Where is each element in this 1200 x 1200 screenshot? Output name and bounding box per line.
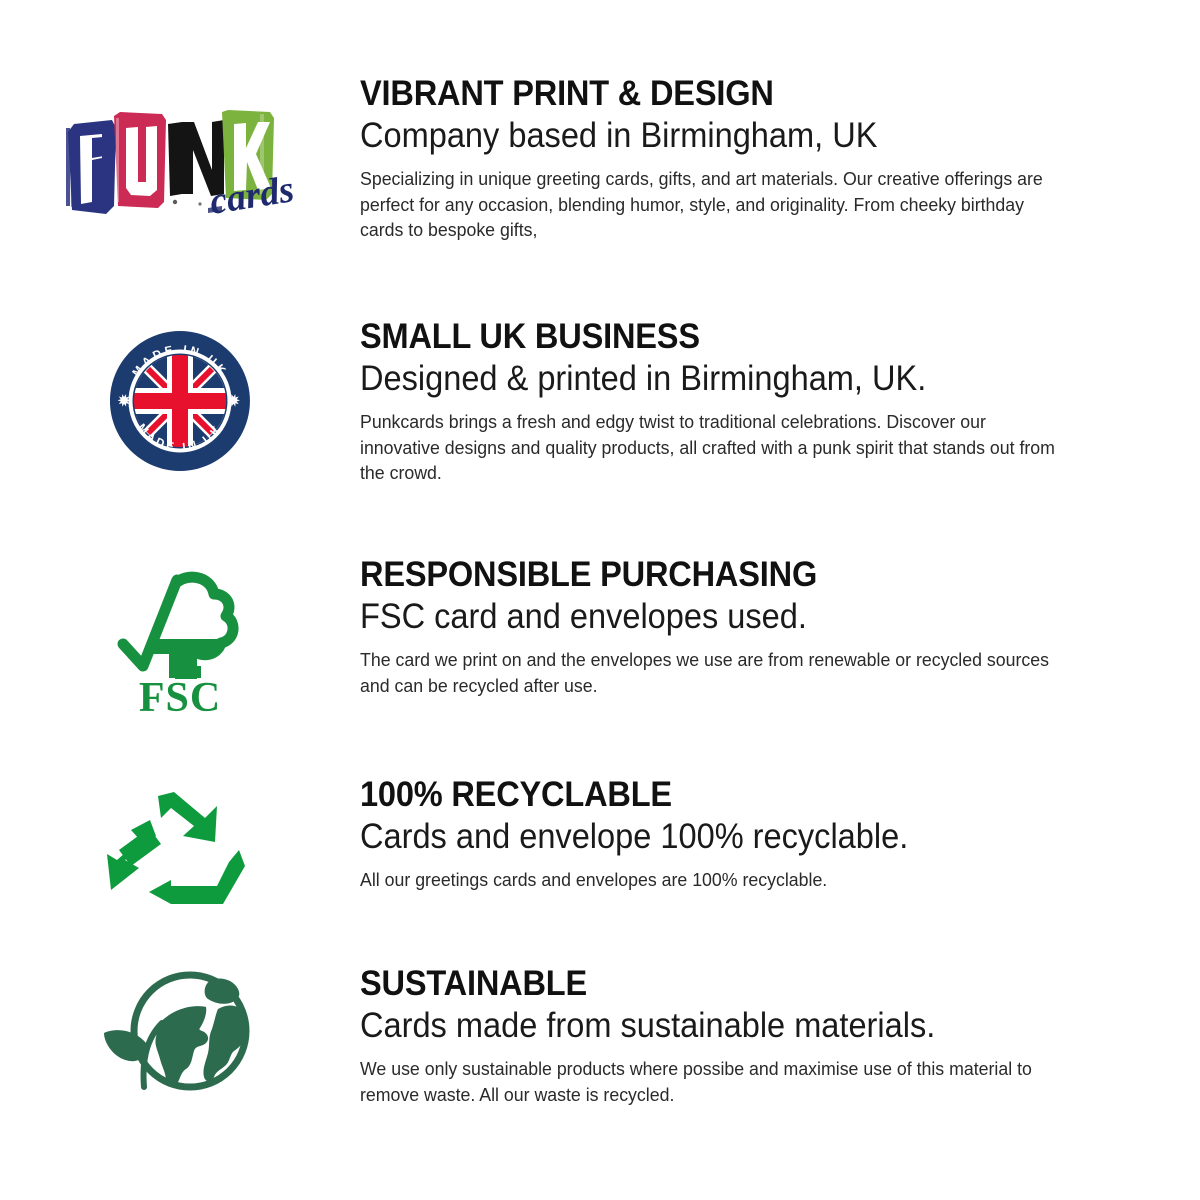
feature-title: SMALL UK BUSINESS [360, 318, 1030, 356]
feature-row: 100% RECYCLABLE Cards and envelope 100% … [0, 774, 1200, 959]
feature-icon-cell [0, 959, 360, 1093]
feature-body: The card we print on and the envelopes w… [360, 648, 1062, 700]
feature-text-cell: 100% RECYCLABLE Cards and envelope 100% … [360, 774, 1100, 894]
feature-row: FSC RESPONSIBLE PURCHASING FSC card and … [0, 556, 1200, 774]
feature-row: SUSTAINABLE Cards made from sustainable … [0, 959, 1200, 1159]
feature-text-cell: RESPONSIBLE PURCHASING FSC card and enve… [360, 556, 1100, 699]
feature-text-cell: SUSTAINABLE Cards made from sustainable … [360, 959, 1100, 1108]
feature-subtitle: Designed & printed in Birmingham, UK. [360, 358, 1030, 400]
feature-title: 100% RECYCLABLE [360, 776, 1030, 814]
globe-plant-icon [84, 965, 276, 1093]
feature-body: All our greetings cards and envelopes ar… [360, 868, 1062, 894]
feature-body: Specializing in unique greeting cards, g… [360, 167, 1062, 245]
feature-row: MADE IN UK MADE IN UK SMALL UK BUSIN [0, 316, 1200, 556]
feature-icon-cell: cards [0, 58, 360, 220]
feature-icon-cell: MADE IN UK MADE IN UK [0, 316, 360, 471]
feature-icon-cell: FSC [0, 556, 360, 714]
feature-subtitle: Cards and envelope 100% recyclable. [360, 816, 1030, 858]
feature-subtitle: FSC card and envelopes used. [360, 596, 1030, 638]
feature-list: cards VIBRANT PRINT & DESIGN Company bas… [0, 58, 1200, 1159]
feature-subtitle: Company based in Birmingham, UK [360, 115, 1030, 157]
feature-row: cards VIBRANT PRINT & DESIGN Company bas… [0, 58, 1200, 316]
feature-title: SUSTAINABLE [360, 965, 1030, 1003]
feature-title: RESPONSIBLE PURCHASING [360, 556, 1030, 594]
punkcards-logo: cards [62, 110, 298, 220]
recycle-arrows-icon [105, 788, 255, 908]
fsc-label: FSC [138, 675, 220, 714]
feature-title: VIBRANT PRINT & DESIGN [360, 75, 1030, 113]
feature-highlights-page: cards VIBRANT PRINT & DESIGN Company bas… [0, 0, 1200, 1200]
feature-body: We use only sustainable products where p… [360, 1057, 1062, 1109]
made-in-uk-badge-icon: MADE IN UK MADE IN UK [110, 331, 250, 471]
feature-text-cell: SMALL UK BUSINESS Designed & printed in … [360, 316, 1100, 487]
fsc-tree-icon: FSC [113, 566, 248, 714]
feature-text-cell: VIBRANT PRINT & DESIGN Company based in … [360, 58, 1100, 244]
feature-body: Punkcards brings a fresh and edgy twist … [360, 410, 1062, 488]
feature-icon-cell [0, 774, 360, 908]
feature-subtitle: Cards made from sustainable materials. [360, 1005, 1030, 1047]
